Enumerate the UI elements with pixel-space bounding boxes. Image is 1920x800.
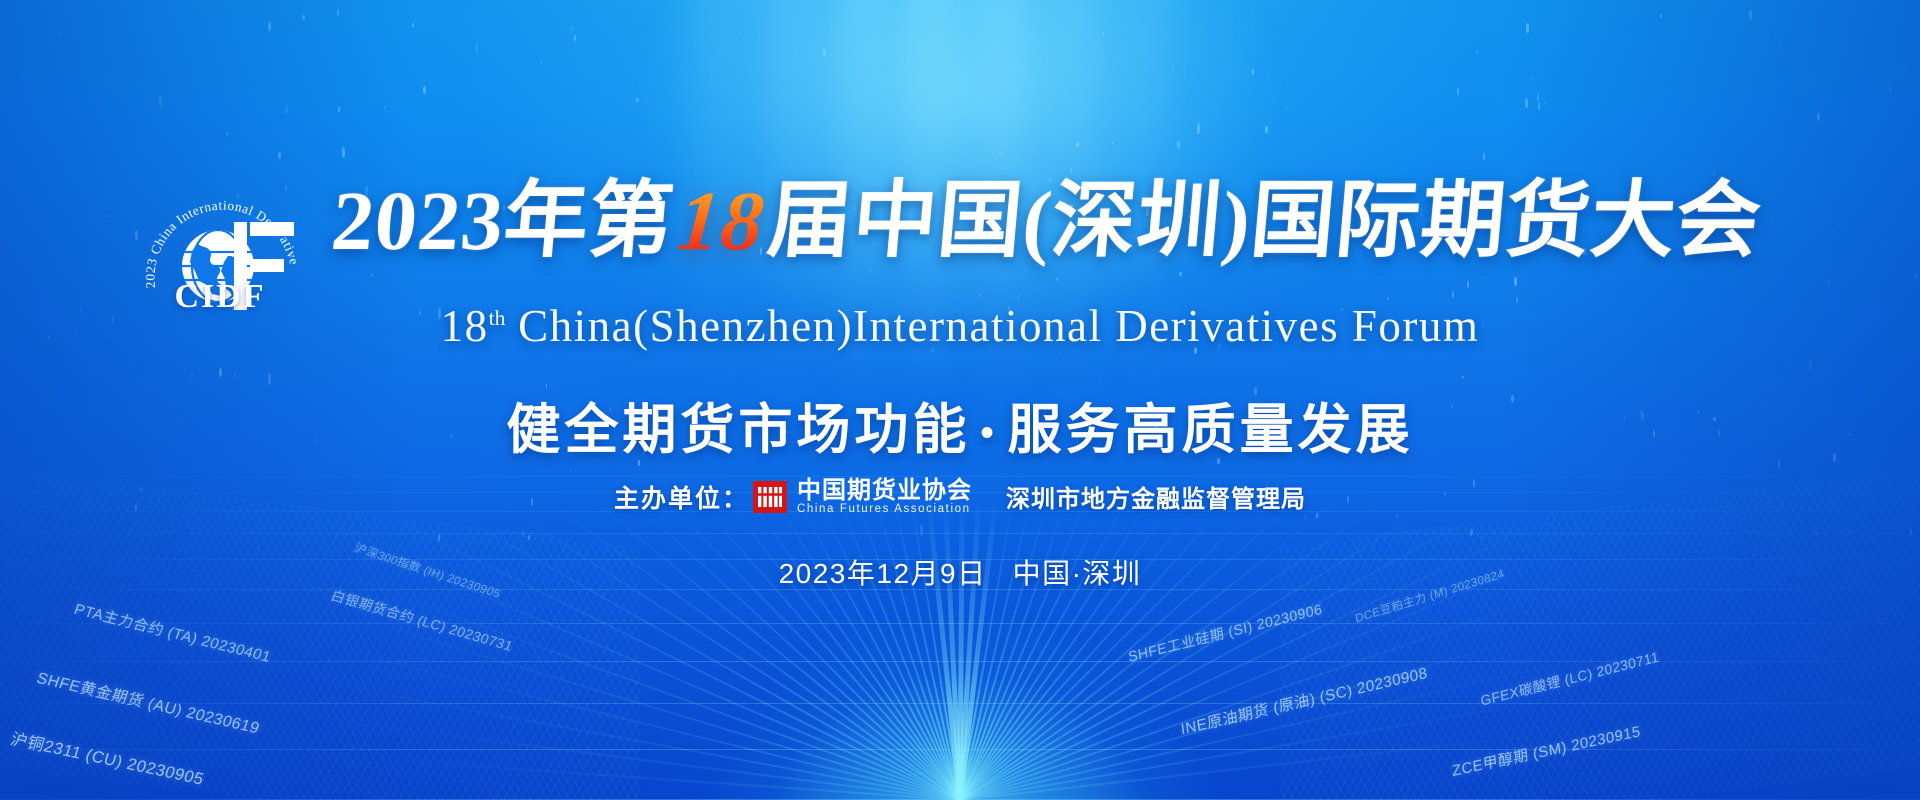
slogan-left: 健全期货市场功能: [506, 400, 970, 460]
cfa-name-block: 中国期货业协会 China Futures Association: [797, 478, 972, 515]
page-title: 2023年第18届中国(深圳)国际期货大会: [327, 168, 1765, 276]
english-ordinal-suffix: th: [489, 306, 506, 330]
cfa-mark-glyph: [757, 486, 783, 508]
poster-content: 2023 China International Derivatives For…: [0, 0, 1920, 800]
event-info: 2023年12月9日中国·深圳: [0, 552, 1920, 592]
china-futures-association-logo-icon: [753, 481, 787, 513]
headline-part2: 届中国(深圳)国际期货大会: [764, 180, 1764, 264]
english-title-rest: China(Shenzhen)International Derivatives…: [505, 301, 1479, 351]
english-ordinal: 18: [441, 301, 489, 351]
headline-edition-number: 18: [670, 180, 771, 264]
cfa-name-en: China Futures Association: [797, 503, 972, 515]
slogan-separator: •: [970, 412, 1007, 454]
event-location: 中国·深圳: [1013, 558, 1142, 589]
slogan: 健全期货市场功能•服务高质量发展: [0, 385, 1920, 464]
headline-part1: 2023年第: [328, 180, 677, 264]
cfa-name-cn: 中国期货业协会: [797, 478, 972, 503]
event-date: 2023年12月9日: [779, 558, 987, 589]
organizers-label: 主办单位：: [614, 479, 749, 515]
organizers-row: 主办单位： 中国期货业协会 China Futures Association …: [0, 478, 1920, 515]
slogan-right: 服务高质量发展: [1008, 400, 1414, 460]
english-title: 18th China(Shenzhen)International Deriva…: [0, 300, 1920, 352]
organizer-secondary: 深圳市地方金融监督管理局: [1006, 479, 1306, 514]
cidf-emblem: 2023 China International Derivatives For…: [140, 160, 300, 310]
